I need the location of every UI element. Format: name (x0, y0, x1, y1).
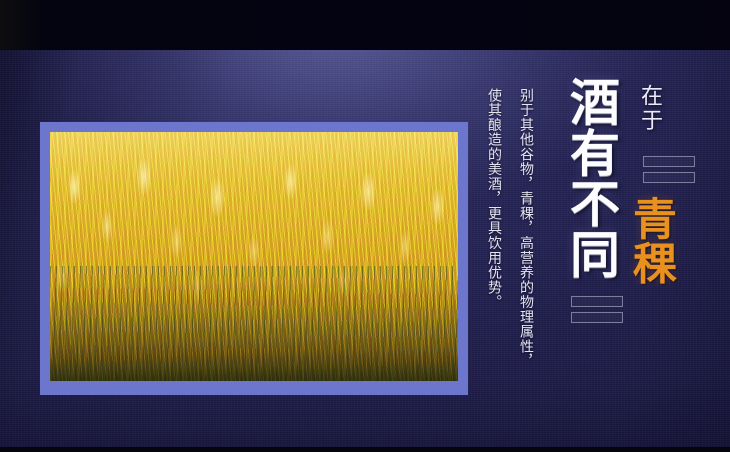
body-text-column-2: 别于其他谷物，青稞，高营养的物理属性， (519, 88, 533, 369)
headline-accent: 青稞 (628, 196, 672, 285)
decorative-bars-bottom (571, 296, 623, 323)
slide-canvas: 使其酿造的美酒，更具饮用优势。 别于其他谷物，青稞，高营养的物理属性， 酒有不同… (0, 0, 730, 452)
barley-field-photo (50, 132, 458, 381)
headline-main: 酒有不同 (566, 76, 616, 279)
headline-prefix: 在于 (638, 84, 660, 133)
decorative-bar (571, 296, 623, 307)
body-text-column-1: 使其酿造的美酒，更具饮用优势。 (487, 88, 501, 310)
letterbox-bottom-bar (0, 447, 730, 452)
decorative-bar (643, 172, 695, 183)
letterbox-top-bar (0, 0, 730, 50)
photo-frame (40, 122, 468, 395)
decorative-bars-top (643, 156, 695, 183)
photo-layer-shading (50, 132, 458, 381)
decorative-bar (643, 156, 695, 167)
decorative-bar (571, 312, 623, 323)
